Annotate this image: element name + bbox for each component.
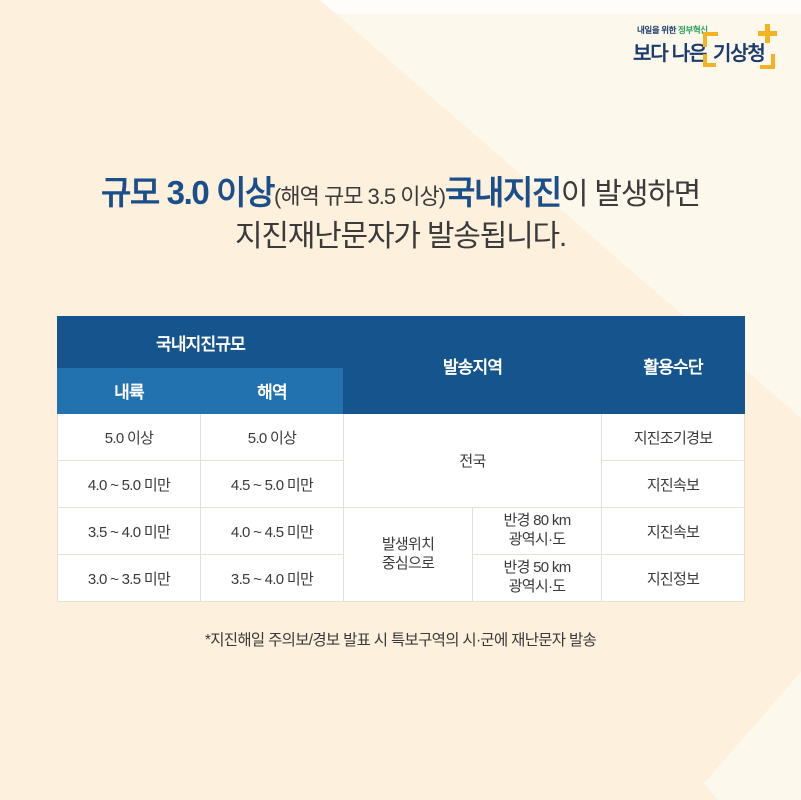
footnote: *지진해일 주의보/경보 발표 시 특보구역의 시·군에 재난문자 발송 [0, 628, 801, 650]
page-title: 규모 3.0 이상(해역 규모 3.5 이상)국내지진이 발생하면 지진재난문자… [0, 170, 801, 257]
cell-area-radius: 반경 80 km 광역시·도 [473, 508, 602, 555]
logo-tagline: 내일을 위한 정부혁신 [637, 24, 708, 36]
logo-agency-text: 기상청 [713, 37, 765, 66]
headline-line-1-tail: 이 발생하면 [561, 178, 700, 211]
headline-magnitude-strong: 규모 3.0 이상 [101, 174, 274, 211]
header-offshore: 해역 [201, 368, 344, 414]
kma-logo: 내일을 위한 정부혁신 보다 나은 기상청 [627, 22, 777, 78]
logo-tagline-plain: 내일을 위한 [637, 25, 678, 35]
cell-means: 지진속보 [602, 508, 745, 555]
logo-plus-icon [758, 24, 777, 43]
cell-offshore-magnitude: 4.5 ~ 5.0 미만 [201, 461, 344, 508]
cell-area-radius-line-2: 광역시·도 [473, 531, 601, 550]
cell-offshore-magnitude: 5.0 이상 [201, 414, 344, 461]
cell-area-epicenter-line-2: 중심으로 [344, 555, 472, 574]
cell-inland-magnitude: 5.0 이상 [58, 414, 201, 461]
cell-area-radius-line-2: 광역시·도 [473, 578, 601, 597]
cell-means: 지진정보 [602, 555, 745, 602]
logo-bracket-bottom-right-icon [760, 54, 775, 69]
cell-offshore-magnitude: 4.0 ~ 4.5 미만 [201, 508, 344, 555]
header-magnitude-group: 국내지진규모 [58, 317, 344, 368]
header-means: 활용수단 [602, 317, 745, 414]
table-header-row-1: 국내지진규모 발송지역 활용수단 [58, 317, 745, 368]
cell-area-radius-line-1: 반경 50 km [473, 559, 601, 578]
diagonal-band-bottom [0, 641, 801, 800]
logo-main-text: 보다 나은 [633, 37, 706, 66]
header-inland: 내륙 [58, 368, 201, 414]
cell-means: 지진조기경보 [602, 414, 745, 461]
cell-inland-magnitude: 4.0 ~ 5.0 미만 [58, 461, 201, 508]
cell-area-epicenter: 발생위치 중심으로 [344, 508, 473, 602]
headline-domestic-quake-strong: 국내지진 [445, 174, 561, 211]
header-send-area: 발송지역 [344, 317, 602, 414]
cell-means: 지진속보 [602, 461, 745, 508]
cell-area-epicenter-line-1: 발생위치 [344, 536, 472, 555]
cell-area-nationwide: 전국 [344, 414, 602, 508]
cell-area-radius-line-1: 반경 80 km [473, 512, 601, 531]
top-highlight-strip [0, 0, 801, 14]
cell-inland-magnitude: 3.0 ~ 3.5 미만 [58, 555, 201, 602]
cell-area-radius: 반경 50 km 광역시·도 [473, 555, 602, 602]
cell-inland-magnitude: 3.5 ~ 4.0 미만 [58, 508, 201, 555]
table-row: 3.5 ~ 4.0 미만 4.0 ~ 4.5 미만 발생위치 중심으로 반경 8… [58, 508, 745, 555]
infographic-page: 내일을 위한 정부혁신 보다 나은 기상청 규모 3.0 이상(해역 규모 3.… [0, 0, 801, 800]
headline-line-2: 지진재난문자가 발송됩니다. [0, 216, 801, 257]
headline-line-1: 규모 3.0 이상(해역 규모 3.5 이상)국내지진이 발생하면 [0, 170, 801, 216]
earthquake-alert-table: 국내지진규모 발송지역 활용수단 내륙 해역 5.0 이상 5.0 이상 전국 … [57, 316, 745, 602]
headline-offshore-note: (해역 규모 3.5 이상) [274, 184, 445, 209]
cell-offshore-magnitude: 3.5 ~ 4.0 미만 [201, 555, 344, 602]
earthquake-alert-table-wrapper: 국내지진규모 발송지역 활용수단 내륙 해역 5.0 이상 5.0 이상 전국 … [57, 316, 744, 602]
table-row: 5.0 이상 5.0 이상 전국 지진조기경보 [58, 414, 745, 461]
headline-line-2-text: 지진재난문자가 발송됩니다. [235, 220, 566, 253]
